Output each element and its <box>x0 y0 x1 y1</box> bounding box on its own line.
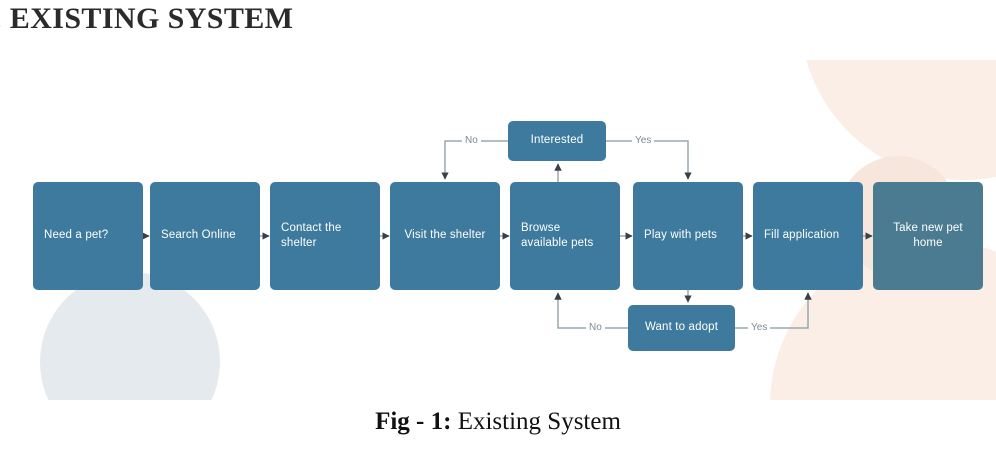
flow-node-need-a-pet[interactable]: Need a pet? <box>33 182 143 290</box>
flow-node-label: Want to adopt <box>636 320 727 335</box>
flow-node-contact-the-shelter[interactable]: Contact the shelter <box>270 182 380 290</box>
figure-existing-system: visit the shelter --> play with pets -->… <box>0 60 996 400</box>
page-title: . EXISTING SYSTEM <box>0 2 293 36</box>
flow-node-label: Browse available pets <box>521 221 609 251</box>
edge-label-no-adopt: No <box>586 322 605 334</box>
edge-label-no-interested: No <box>462 135 481 147</box>
edge-label-yes-interested: Yes <box>632 135 654 147</box>
flow-node-search-online[interactable]: Search Online <box>150 182 260 290</box>
flow-node-label: Need a pet? <box>44 228 132 243</box>
flow-node-play-with-pets[interactable]: Play with pets <box>633 182 743 290</box>
flow-node-visit-the-shelter[interactable]: Visit the shelter <box>390 182 500 290</box>
figure-caption: Fig - 1: Existing System <box>0 408 996 436</box>
figure-caption-text: Existing System <box>451 408 620 435</box>
figure-caption-prefix: Fig - 1: <box>375 408 451 435</box>
flow-node-label: Visit the shelter <box>401 228 489 243</box>
flow-node-interested[interactable]: Interested <box>508 121 606 161</box>
flow-node-take-new-pet-home[interactable]: Take new pet home <box>873 182 983 290</box>
edge-label-yes-adopt: Yes <box>748 322 770 334</box>
flow-node-label: Search Online <box>161 228 249 243</box>
flow-node-label: Interested <box>516 133 598 148</box>
flow-node-label: Fill application <box>764 228 852 243</box>
flow-node-browse-available-pets[interactable]: Browse available pets <box>510 182 620 290</box>
flow-node-label: Play with pets <box>644 228 732 243</box>
edge-adopt-yes-fill <box>735 293 808 328</box>
flow-node-label: Take new pet home <box>884 221 972 251</box>
flow-node-want-to-adopt[interactable]: Want to adopt <box>628 305 735 351</box>
flow-node-fill-application[interactable]: Fill application <box>753 182 863 290</box>
flow-node-label: Contact the shelter <box>281 221 369 251</box>
